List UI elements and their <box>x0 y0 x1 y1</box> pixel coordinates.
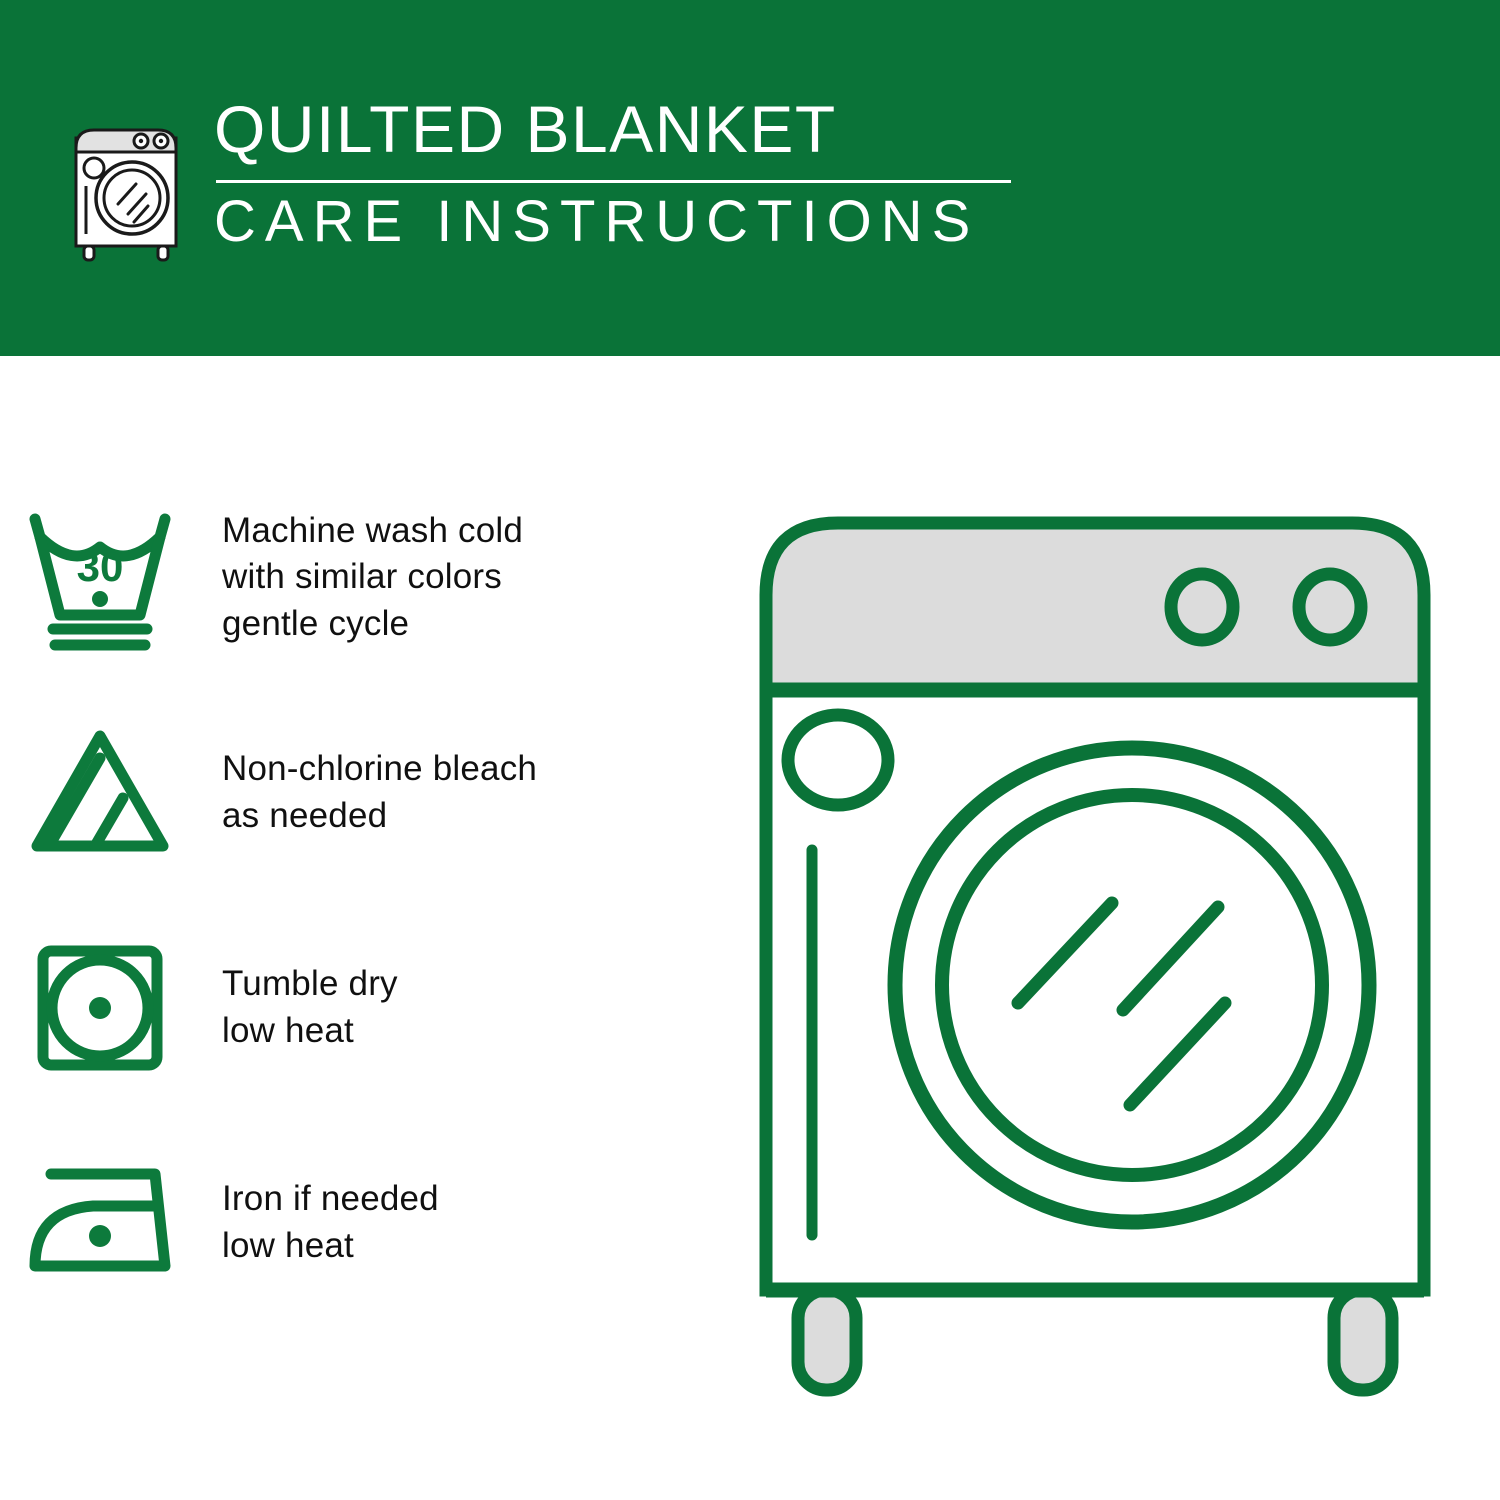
page-header: QUILTED BLANKET CARE INSTRUCTIONS <box>0 0 1500 356</box>
care-line: Non-chlorine bleach <box>222 746 537 792</box>
care-line: with similar colors <box>222 554 523 600</box>
care-line: low heat <box>222 1223 439 1269</box>
care-text-tumble-dry: Tumble dry low heat <box>200 961 398 1053</box>
header-title-block: QUILTED BLANKET CARE INSTRUCTIONS <box>214 96 1034 251</box>
care-line: as needed <box>222 793 537 839</box>
care-row-bleach: Non-chlorine bleach as needed <box>0 685 740 900</box>
page-title: QUILTED BLANKET <box>214 96 1034 162</box>
care-instruction-list: 30 Machine wash cold with similar colors… <box>0 470 740 1330</box>
non-chlorine-bleach-triangle-icon <box>0 718 200 868</box>
care-text-iron: Iron if needed low heat <box>200 1176 439 1268</box>
iron-low-heat-icon <box>0 1148 200 1298</box>
title-divider <box>216 180 1011 183</box>
care-row-tumble-dry: Tumble dry low heat <box>0 900 740 1115</box>
care-line: Machine wash cold <box>222 508 523 554</box>
page-subtitle: CARE INSTRUCTIONS <box>214 193 1034 251</box>
care-line: Iron if needed <box>222 1176 439 1222</box>
care-text-machine-wash: Machine wash cold with similar colors ge… <box>200 508 523 647</box>
tumble-dry-low-icon <box>0 933 200 1083</box>
care-row-machine-wash: 30 Machine wash cold with similar colors… <box>0 470 740 685</box>
door-inner-ring <box>942 795 1322 1175</box>
detergent-dispenser <box>788 715 888 805</box>
care-line: gentle cycle <box>222 601 523 647</box>
knob-right <box>1299 574 1361 640</box>
care-line: Tumble dry <box>222 961 398 1007</box>
care-text-bleach: Non-chlorine bleach as needed <box>200 746 537 838</box>
care-row-iron: Iron if needed low heat <box>0 1115 740 1330</box>
care-instructions-page: QUILTED BLANKET CARE INSTRUCTIONS 30 <box>0 0 1500 1500</box>
leg-right <box>1334 1290 1392 1390</box>
care-line: low heat <box>222 1008 398 1054</box>
wash-tub-30-icon: 30 <box>0 503 200 653</box>
wash-temperature-label: 30 <box>76 543 123 590</box>
washing-machine-icon <box>62 104 192 264</box>
front-load-washing-machine-illustration <box>740 495 1450 1435</box>
leg-left <box>798 1290 856 1390</box>
knob-left <box>1171 574 1233 640</box>
